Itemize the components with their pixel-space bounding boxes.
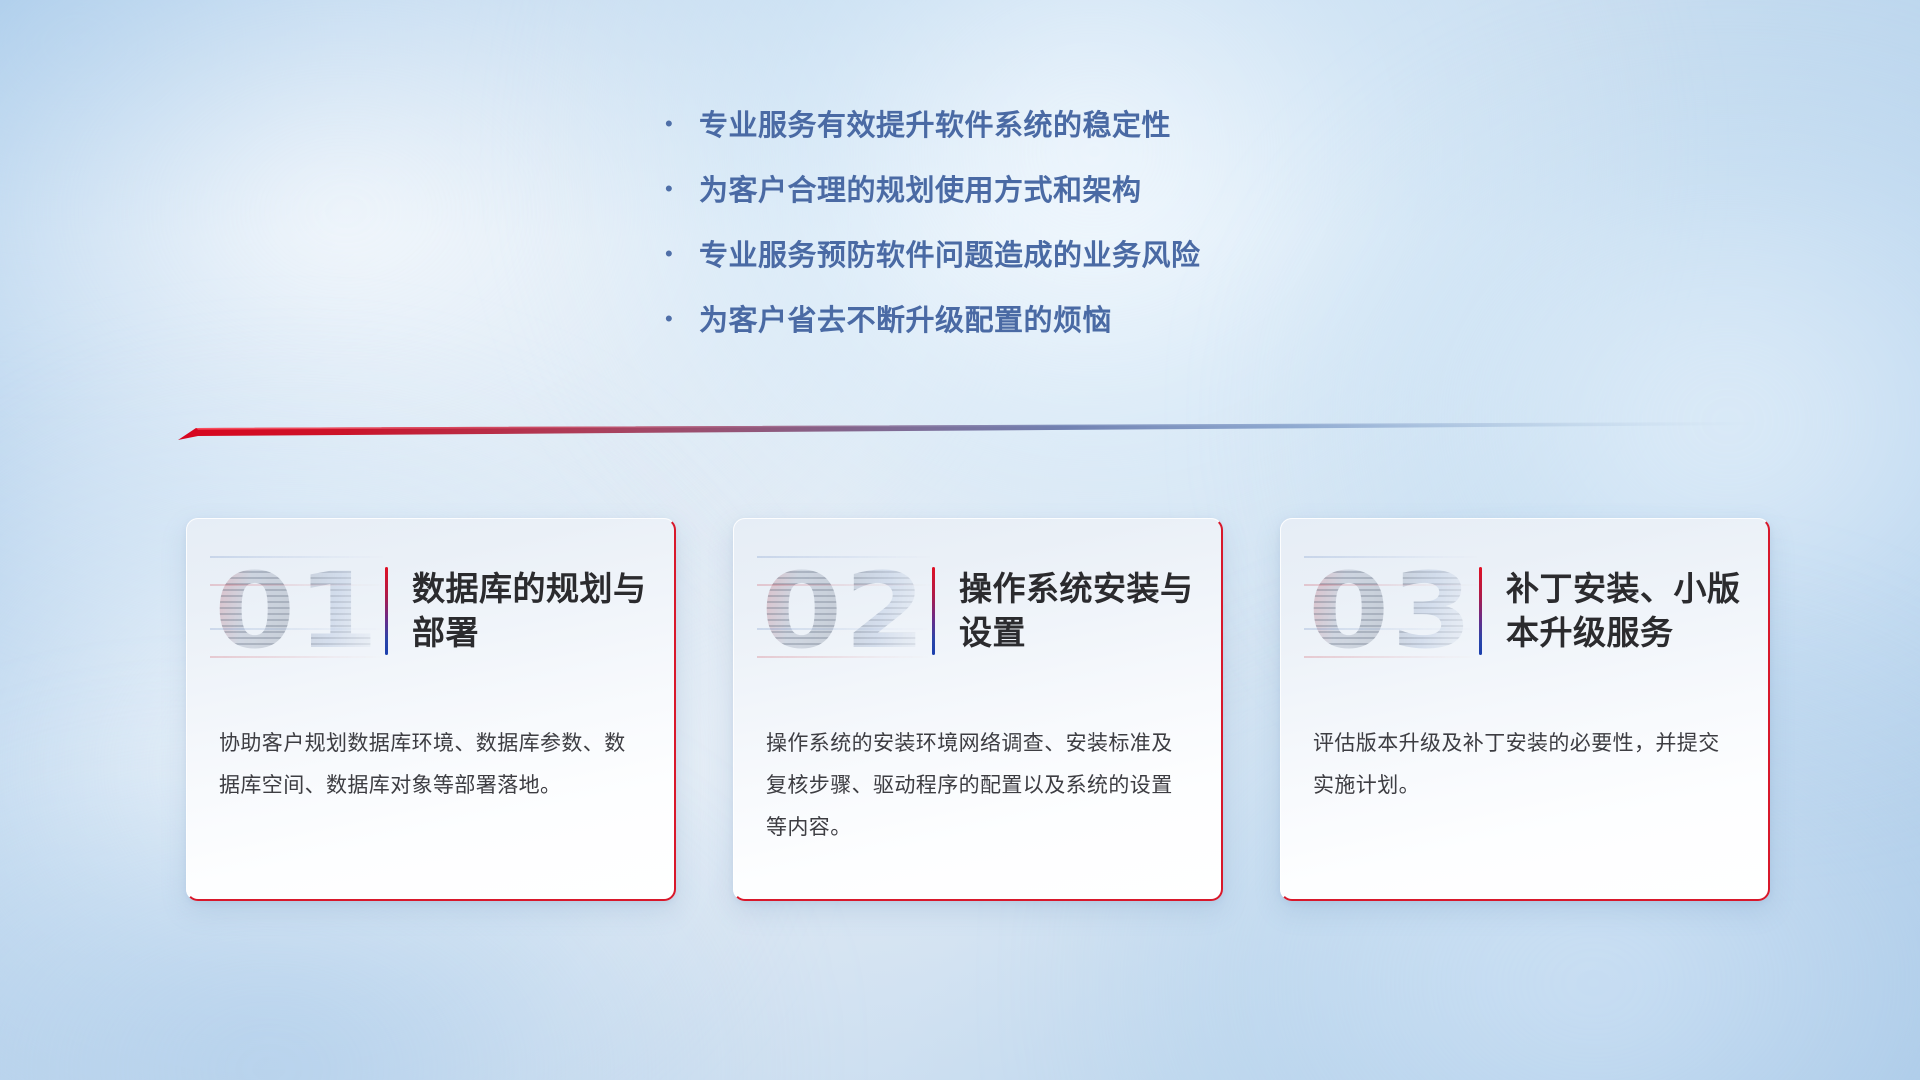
card-header: 01 数据库的规划与部署 — [186, 518, 676, 703]
card-description: 协助客户规划数据库环境、数据库参数、数据库空间、数据库对象等部署落地。 — [219, 723, 646, 807]
divider-line-icon — [178, 420, 1763, 446]
bullet-text: 专业服务预防软件问题造成的业务风险 — [699, 242, 1201, 271]
section-divider — [178, 420, 1763, 446]
bullet-marker-icon: • — [665, 243, 699, 265]
bullet-marker-icon: • — [665, 308, 699, 330]
service-card-02[interactable]: 02 操作系统安装与设置 操作系统的安装环境网络调查、安装标准及复核步骤、驱动程… — [733, 518, 1223, 901]
benefits-bullet-list: • 专业服务有效提升软件系统的稳定性 • 为客户合理的规划使用方式和架构 • 专… — [665, 112, 1201, 372]
card-title: 数据库的规划与部署 — [412, 567, 648, 655]
list-item: • 专业服务有效提升软件系统的稳定性 — [665, 112, 1201, 177]
bullet-text: 为客户合理的规划使用方式和架构 — [699, 177, 1142, 206]
card-number-badge: 02 — [757, 551, 932, 671]
card-title: 补丁安装、小版本升级服务 — [1506, 567, 1742, 655]
card-accent-bar — [385, 567, 388, 655]
bullet-marker-icon: • — [665, 113, 699, 135]
service-card-03[interactable]: 03 补丁安装、小版本升级服务 评估版本升级及补丁安装的必要性，并提交实施计划。 — [1280, 518, 1770, 901]
bullet-text: 为客户省去不断升级配置的烦恼 — [699, 307, 1112, 336]
card-description: 评估版本升级及补丁安装的必要性，并提交实施计划。 — [1313, 723, 1740, 807]
card-number-text: 01 — [214, 559, 381, 663]
card-accent-bar — [1479, 567, 1482, 655]
card-description: 操作系统的安装环境网络调查、安装标准及复核步骤、驱动程序的配置以及系统的设置等内… — [766, 723, 1193, 849]
card-number-badge: 03 — [1304, 551, 1479, 671]
card-header: 03 补丁安装、小版本升级服务 — [1280, 518, 1770, 703]
list-item: • 专业服务预防软件问题造成的业务风险 — [665, 242, 1201, 307]
card-number-text: 02 — [761, 559, 928, 663]
bullet-marker-icon: • — [665, 178, 699, 200]
service-card-01[interactable]: 01 数据库的规划与部署 协助客户规划数据库环境、数据库参数、数据库空间、数据库… — [186, 518, 676, 901]
card-number-text: 03 — [1308, 559, 1475, 663]
bullet-text: 专业服务有效提升软件系统的稳定性 — [699, 112, 1171, 141]
card-title: 操作系统安装与设置 — [959, 567, 1195, 655]
list-item: • 为客户省去不断升级配置的烦恼 — [665, 307, 1201, 372]
card-number-badge: 01 — [210, 551, 385, 671]
list-item: • 为客户合理的规划使用方式和架构 — [665, 177, 1201, 242]
service-card-list: 01 数据库的规划与部署 协助客户规划数据库环境、数据库参数、数据库空间、数据库… — [186, 518, 1770, 901]
card-accent-bar — [932, 567, 935, 655]
card-header: 02 操作系统安装与设置 — [733, 518, 1223, 703]
